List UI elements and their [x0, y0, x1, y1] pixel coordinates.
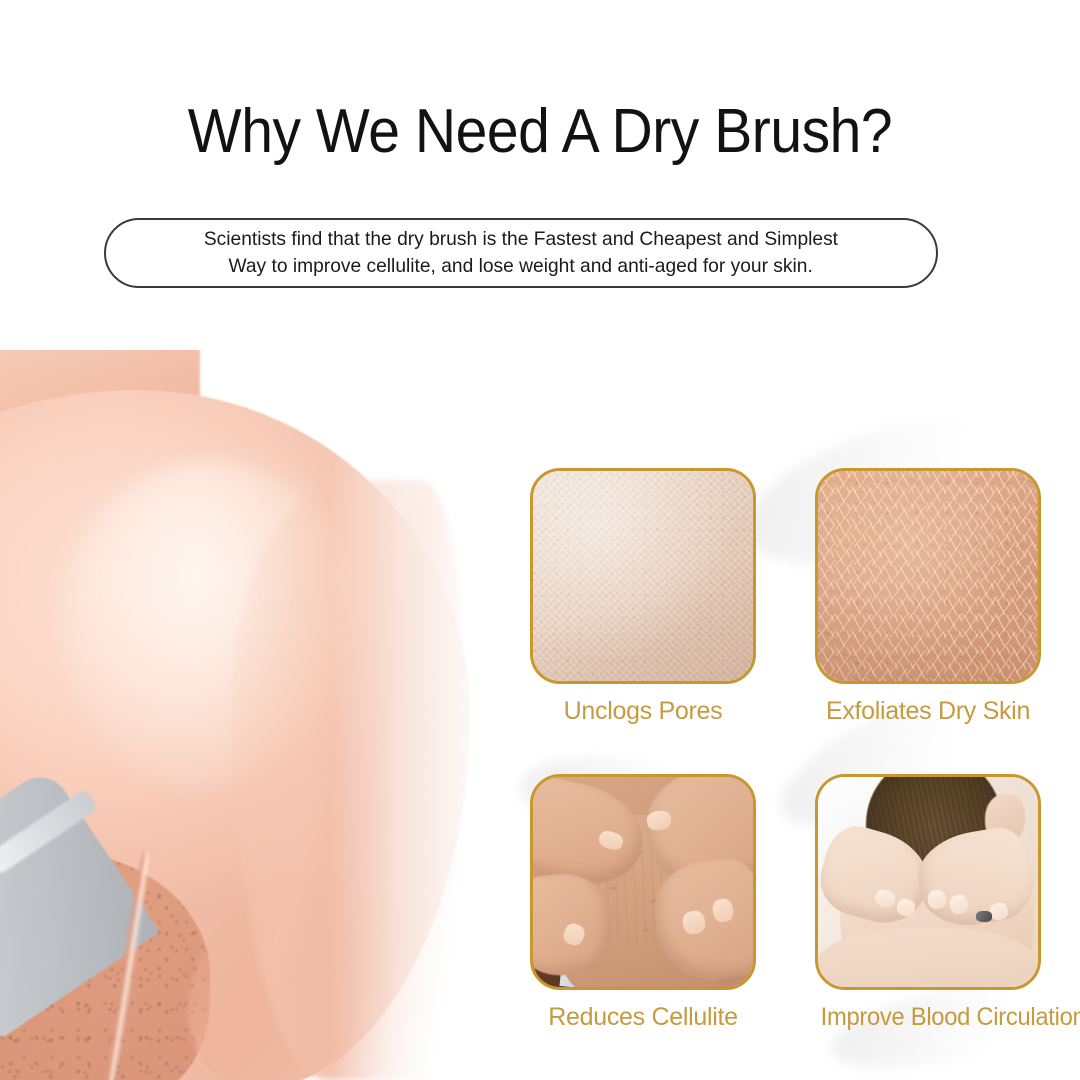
benefits-grid: Unclogs Pores Exfoliates Dry Skin: [500, 430, 1080, 1050]
benefit-label-unclogs-pores: Unclogs Pores: [530, 696, 756, 726]
benefit-label-improve-blood-circulation: Improve Blood Circulation: [821, 1002, 1036, 1032]
benefit-image-frame: [815, 468, 1041, 684]
dry-skin-shading: [818, 471, 1038, 681]
subtitle-line-1: Scientists find that the dry brush is th…: [204, 226, 838, 253]
cellulite-photo: [533, 777, 753, 987]
benefit-card-unclogs-pores[interactable]: Unclogs Pores: [530, 468, 756, 726]
product-benefits-page: Why We Need A Dry Brush? Scientists find…: [0, 0, 1080, 1080]
benefit-card-improve-blood-circulation[interactable]: Improve Blood Circulation: [815, 774, 1041, 1032]
fingernail: [949, 893, 969, 914]
skin-pores-shading: [533, 471, 753, 681]
benefit-card-exfoliates-dry-skin[interactable]: Exfoliates Dry Skin: [815, 468, 1041, 726]
benefit-card-reduces-cellulite[interactable]: Reduces Cellulite: [530, 774, 756, 1032]
subtitle-callout-box: Scientists find that the dry brush is th…: [104, 218, 938, 288]
benefit-image-frame: [530, 774, 756, 990]
photo-right-fade: [330, 350, 470, 1080]
benefit-label-reduces-cellulite: Reduces Cellulite: [530, 1002, 756, 1032]
neck-massage-photo: [818, 777, 1038, 987]
benefit-image-frame: [815, 774, 1041, 990]
subtitle-line-2: Way to improve cellulite, and lose weigh…: [229, 253, 813, 280]
benefit-image-frame: [530, 468, 756, 684]
shoulders: [815, 928, 1041, 990]
page-title: Why We Need A Dry Brush?: [43, 96, 1037, 167]
benefit-label-exfoliates-dry-skin: Exfoliates Dry Skin: [815, 696, 1041, 726]
woman-shoulder-photo: [0, 350, 470, 1080]
ring: [976, 911, 991, 922]
